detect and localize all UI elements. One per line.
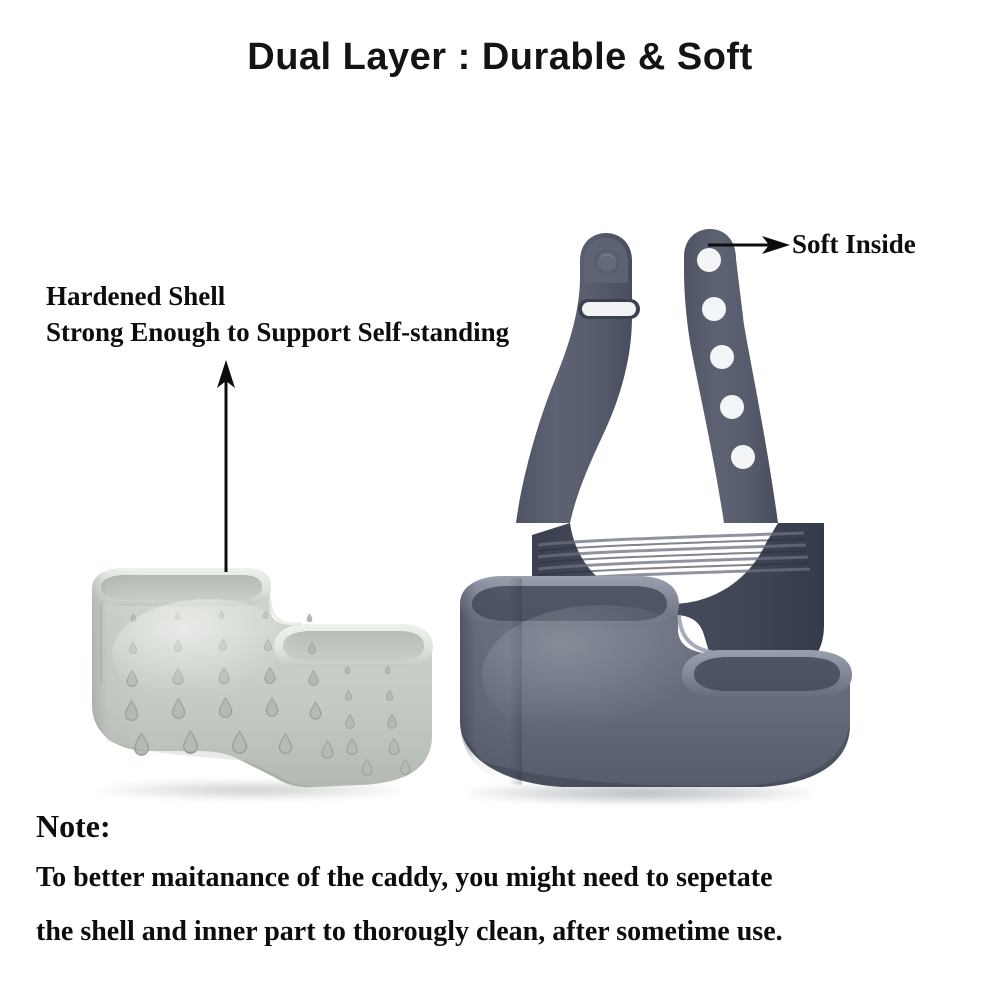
arrow-right-icon [706, 228, 792, 262]
page-title: Dual Layer : Durable & Soft [0, 36, 1000, 79]
note-line-2: the shell and inner part to thorougly cl… [36, 916, 783, 948]
mint-hardened-shell [88, 555, 440, 792]
product-illustration-stage [0, 120, 1000, 810]
note-line-1: To better maitanance of the caddy, you m… [36, 862, 773, 894]
gray-soft-inner-caddy [452, 205, 864, 797]
note-heading: Note: [36, 808, 111, 845]
callout-hardened-shell-line2: Strong Enough to Support Self-standing [46, 314, 509, 350]
callout-hardened-shell: Hardened Shell Strong Enough to Support … [46, 278, 509, 350]
product-infographic: Dual Layer : Durable & Soft [0, 0, 1000, 1000]
callout-soft-inside: Soft Inside [792, 229, 916, 260]
arrow-up-icon [206, 358, 246, 574]
callout-hardened-shell-line1: Hardened Shell [46, 278, 509, 314]
